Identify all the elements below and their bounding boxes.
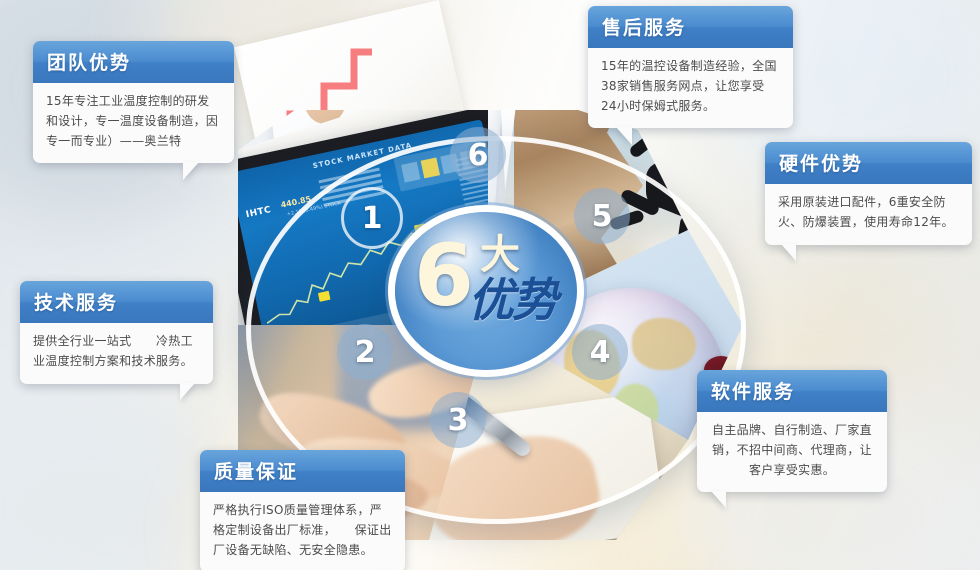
callout-tail: [616, 127, 632, 145]
callout-tail: [180, 383, 195, 400]
callout-body-software: 自主品牌、自行制造、厂家直销，不招中间商、代理商，让客户享受实惠。: [697, 412, 887, 492]
callout-card-quality[interactable]: 质量保证 严格执行ISO质量管理体系，严格定制设备出厂标准， 保证出厂设备无缺陷…: [200, 450, 405, 570]
callout-tail: [781, 244, 796, 261]
segment-number-2[interactable]: 2: [337, 324, 393, 380]
center-script-word: 优势: [468, 277, 556, 323]
callout-title-team: 团队优势: [33, 41, 234, 83]
callout-tail: [183, 162, 199, 180]
center-big-word: 大: [480, 235, 520, 275]
callout-body-hardware: 采用原装进口配件，6重安全防火、防爆装置，使用寿命12年。: [765, 184, 972, 245]
callout-body-team: 15年专注工业温度控制的研发和设计，专一温度设备制造，因专一而专业）——奥兰特: [33, 83, 234, 163]
callout-title-hardware: 硬件优势: [765, 142, 972, 184]
callout-body-quality: 严格执行ISO质量管理体系，严格定制设备出厂标准， 保证出厂设备无缺陷、无安全隐…: [200, 492, 405, 570]
callout-card-technical[interactable]: 技术服务 提供全行业一站式 冷热工业温度控制方案和技术服务。: [20, 281, 213, 384]
segment-number-3[interactable]: 3: [430, 392, 486, 448]
callout-body-technical: 提供全行业一站式 冷热工业温度控制方案和技术服务。: [20, 323, 213, 384]
callout-card-software[interactable]: 软件服务 自主品牌、自行制造、厂家直销，不招中间商、代理商，让客户享受实惠。: [697, 370, 887, 492]
segment-number-5[interactable]: 5: [574, 188, 630, 244]
segment-number-6[interactable]: 6: [450, 127, 506, 183]
callout-card-after-sales[interactable]: 售后服务 15年的温控设备制造经验，全国38家销售服务网点，让您享受24小时保姆…: [588, 6, 793, 128]
center-badge: 6 大 优势: [395, 212, 577, 370]
center-number: 6: [414, 233, 474, 319]
callout-title-after-sales: 售后服务: [588, 6, 793, 48]
callout-title-technical: 技术服务: [20, 281, 213, 323]
callout-title-software: 软件服务: [697, 370, 887, 412]
callout-tail: [711, 491, 726, 508]
callout-card-hardware[interactable]: 硬件优势 采用原装进口配件，6重安全防火、防爆装置，使用寿命12年。: [765, 142, 972, 245]
callout-card-team[interactable]: 团队优势 15年专注工业温度控制的研发和设计，专一温度设备制造，因专一而专业）—…: [33, 41, 234, 163]
callout-body-after-sales: 15年的温控设备制造经验，全国38家销售服务网点，让您享受24小时保姆式服务。: [588, 48, 793, 128]
callout-title-quality: 质量保证: [200, 450, 405, 492]
tablet-brand-label: IHTC: [245, 205, 272, 220]
segment-number-4[interactable]: 4: [572, 324, 628, 380]
infographic-canvas: STOCK MARKET DATA IHTC 440.85 +2.15 (0.4…: [0, 0, 980, 570]
segment-number-1[interactable]: 1: [341, 187, 403, 249]
